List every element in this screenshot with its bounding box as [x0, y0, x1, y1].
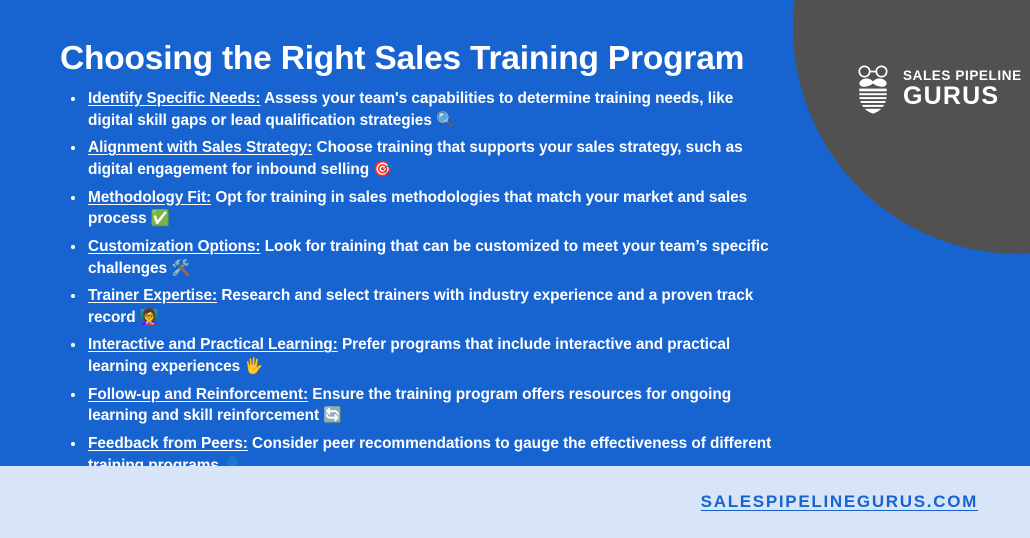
footer-band: SALESPIPELINEGURUS.COM: [0, 466, 1030, 538]
list-item-label: Customization Options:: [88, 238, 260, 255]
check-mark-button-emoji: ✅: [151, 209, 170, 227]
guru-face-icon: [852, 64, 894, 114]
slide-canvas: SALES PIPELINE GURUS Choosing the Right …: [0, 0, 1030, 538]
direct-hit-target-emoji: 🎯: [373, 160, 392, 178]
brand-logo[interactable]: SALES PIPELINE GURUS: [852, 64, 1022, 114]
list-item: Alignment with Sales Strategy: Choose tr…: [66, 137, 778, 181]
list-item-label: Interactive and Practical Learning:: [88, 336, 338, 353]
logo-wordmark: SALES PIPELINE GURUS: [903, 69, 1022, 110]
teacher-emoji: 👩‍🏫: [140, 308, 159, 326]
list-item-label: Follow-up and Reinforcement:: [88, 386, 308, 403]
list-item: Methodology Fit: Opt for training in sal…: [66, 187, 778, 231]
list-item-label: Alignment with Sales Strategy:: [88, 139, 312, 156]
footer-website-link[interactable]: SALESPIPELINEGURUS.COM: [701, 492, 978, 512]
list-item-label: Identify Specific Needs:: [88, 90, 260, 107]
logo-line-1: SALES PIPELINE: [903, 69, 1022, 83]
decorative-gray-circle: [793, 0, 1030, 254]
raised-hand-emoji: 🖐️: [244, 357, 263, 375]
list-item-label: Methodology Fit:: [88, 189, 211, 206]
bullet-list: Identify Specific Needs: Assess your tea…: [66, 88, 778, 482]
list-item: Trainer Expertise: Research and select t…: [66, 285, 778, 329]
hammer-and-wrench-emoji: 🛠️: [171, 259, 190, 277]
list-item: Interactive and Practical Learning: Pref…: [66, 334, 778, 378]
magnifying-glass-emoji: 🔍: [436, 111, 455, 129]
list-item-label: Feedback from Peers:: [88, 435, 248, 452]
list-item: Follow-up and Reinforcement: Ensure the …: [66, 384, 778, 428]
list-item: Identify Specific Needs: Assess your tea…: [66, 88, 778, 132]
page-title: Choosing the Right Sales Training Progra…: [60, 40, 800, 79]
counterclockwise-arrows-emoji: 🔄: [323, 406, 342, 424]
logo-line-2: GURUS: [903, 84, 1022, 109]
list-item: Customization Options: Look for training…: [66, 236, 778, 280]
list-item-label: Trainer Expertise:: [88, 287, 217, 304]
